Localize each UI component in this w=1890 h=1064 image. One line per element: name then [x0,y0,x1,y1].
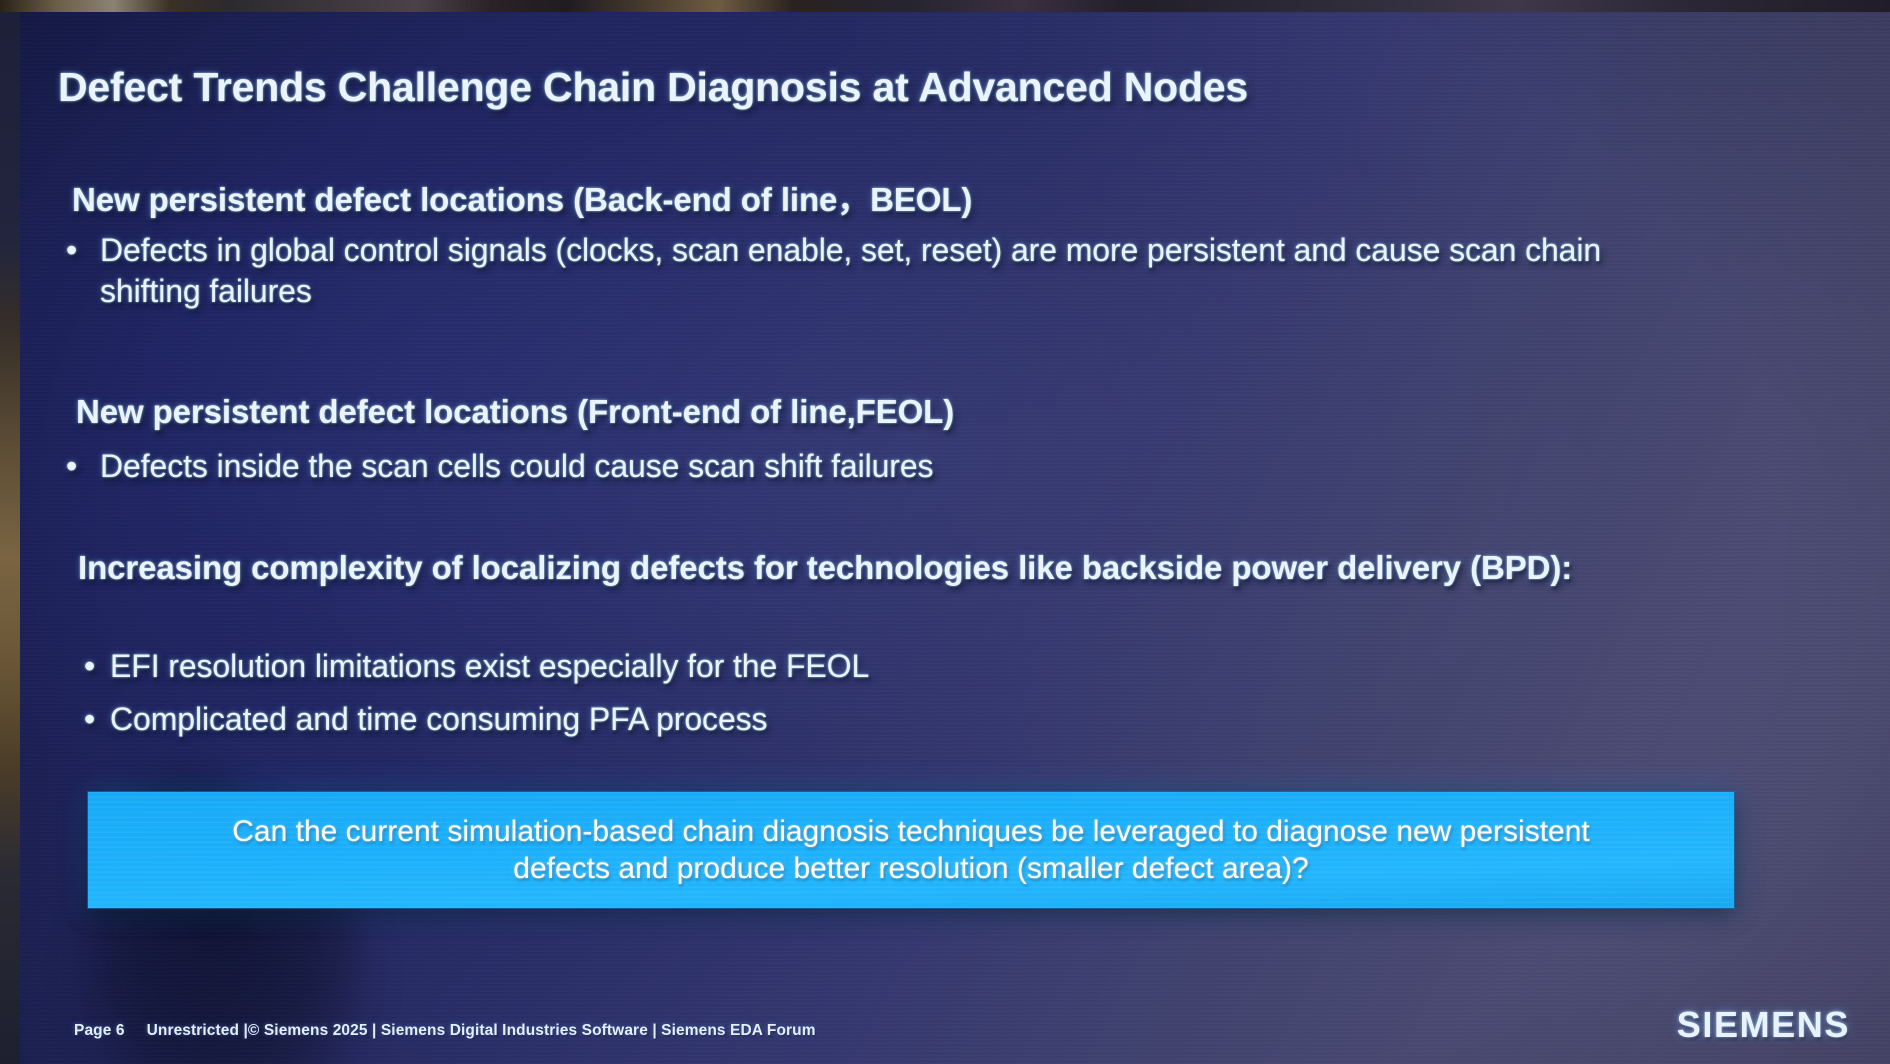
bullet-point-icon: • [66,446,100,487]
section-heading-feol: New persistent defect locations (Front-e… [76,392,954,432]
presentation-slide: Defect Trends Challenge Chain Diagnosis … [14,8,1890,1064]
key-question-text: Can the current simulation-based chain d… [111,813,1711,888]
projected-slide-photo: Defect Trends Challenge Chain Diagnosis … [0,0,1890,1064]
room-wall-left-strip [0,10,20,1064]
bullet-feol-scan-cells: •Defects inside the scan cells could cau… [66,446,1166,487]
section-heading-bpd-complexity: Increasing complexity of localizing defe… [78,548,1698,588]
bullet-point-icon: • [66,230,100,271]
bullet-text: EFI resolution limitations exist especia… [110,646,869,687]
key-question-line-1: Can the current simulation-based chain d… [232,815,1590,848]
slide-title: Defect Trends Challenge Chain Diagnosis … [58,64,1248,111]
copyright-notice: Unrestricted |© Siemens 2025 | Siemens D… [147,1022,816,1040]
bullet-text: Defects inside the scan cells could caus… [100,446,933,487]
section-heading-beol: New persistent defect locations (Back-en… [72,180,972,220]
siemens-logo: SIEMENS [1677,1004,1850,1046]
bullet-pfa-process: •Complicated and time consuming PFA proc… [84,699,767,740]
page-number: Page 6 [74,1022,125,1040]
bullet-text: Defects in global control signals (clock… [100,230,1690,311]
key-question-callout-box: Can the current simulation-based chain d… [88,792,1734,908]
bullet-text: Complicated and time consuming PFA proce… [110,699,767,740]
bullet-point-icon: • [84,646,110,687]
key-question-line-2: defects and produce better resolution (s… [513,852,1308,885]
slide-footer: Page 6 Unrestricted |© Siemens 2025 | Si… [74,1022,816,1040]
bullet-efi-resolution-limitations: •EFI resolution limitations exist especi… [84,646,869,687]
room-ceiling-strip [0,0,1890,12]
bullet-beol-global-control-signals: •Defects in global control signals (cloc… [66,230,1726,311]
bullet-point-icon: • [84,699,110,740]
